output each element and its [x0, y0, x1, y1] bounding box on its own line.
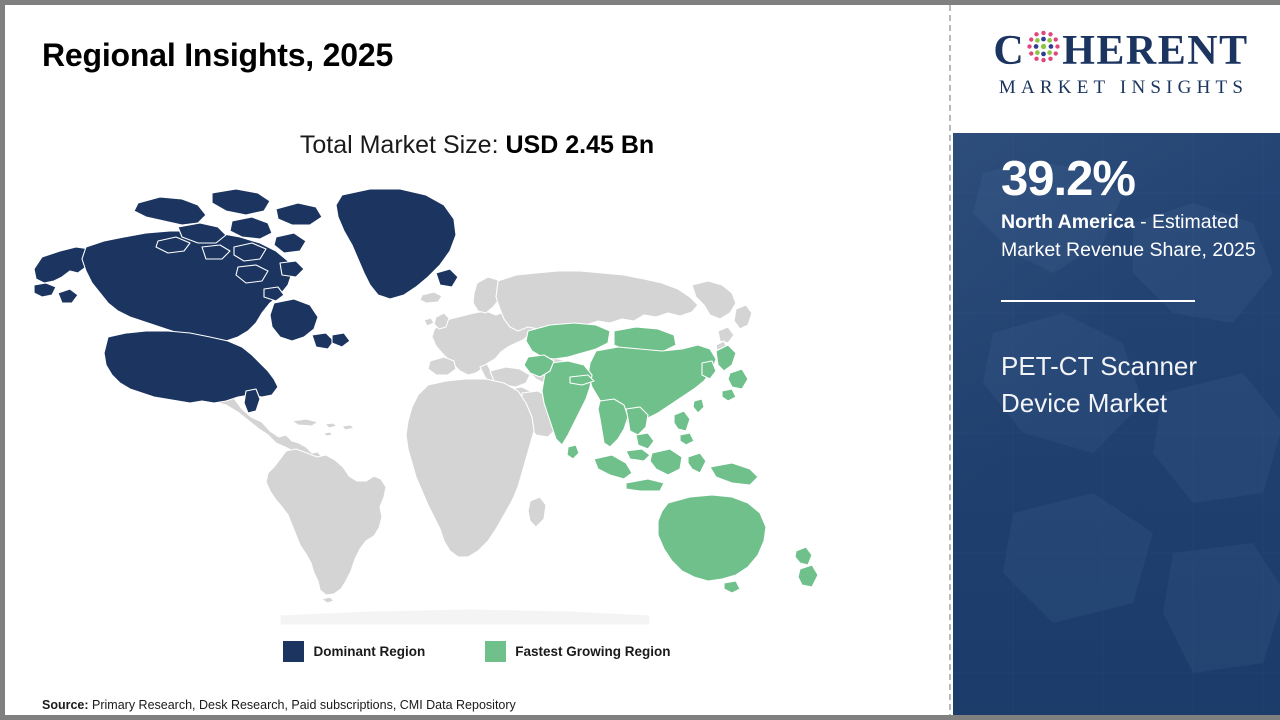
world-map-container [30, 185, 850, 625]
stat-panel: 39.2% North America - Estimated Market R… [953, 133, 1280, 720]
company-logo: C [973, 29, 1269, 99]
logo-tagline: MARKET INSIGHTS [973, 77, 1269, 99]
source-text: Primary Research, Desk Research, Paid su… [89, 698, 516, 712]
page-title: Regional Insights, 2025 [42, 37, 393, 74]
map-region-dominant [34, 189, 458, 413]
total-market-size-value: USD 2.45 Bn [505, 131, 654, 159]
square-swatch-icon [283, 641, 304, 662]
source-label: Source: [42, 698, 89, 712]
legend-label-dominant: Dominant Region [313, 644, 425, 659]
globe-dots-icon [1026, 29, 1061, 72]
logo-wordmark: C [973, 29, 1269, 72]
square-swatch-icon [485, 641, 506, 662]
stat-content: 39.2% North America - Estimated Market R… [953, 133, 1280, 720]
right-sidebar: C [953, 5, 1280, 720]
world-map-svg [30, 185, 850, 625]
total-market-size: Total Market Size: USD 2.45 Bn [5, 131, 949, 160]
infographic-root: Regional Insights, 2025 Total Market Siz… [0, 0, 1280, 720]
stat-description: North America - Estimated Market Revenue… [1001, 209, 1269, 264]
total-market-size-label: Total Market Size: [300, 131, 506, 159]
map-legend: Dominant Region Fastest Growing Region [5, 641, 949, 662]
map-region-fastest-growing [524, 323, 818, 593]
logo-area: C [953, 5, 1280, 133]
legend-item-fastest-growing: Fastest Growing Region [485, 641, 670, 662]
logo-brand-part-1: C [993, 30, 1025, 72]
stat-divider-rule [1001, 300, 1195, 302]
stat-region-name: North America [1001, 211, 1135, 233]
legend-label-fastest-growing: Fastest Growing Region [515, 644, 670, 659]
left-content-panel: Regional Insights, 2025 Total Market Siz… [5, 5, 949, 720]
legend-item-dominant: Dominant Region [283, 641, 425, 662]
logo-brand-part-2: HERENT [1062, 30, 1248, 72]
market-name: PET-CT Scanner Device Market [1001, 348, 1263, 422]
panel-divider [949, 5, 951, 720]
stat-percentage: 39.2% [1001, 155, 1135, 204]
source-note: Source: Primary Research, Desk Research,… [42, 698, 516, 712]
